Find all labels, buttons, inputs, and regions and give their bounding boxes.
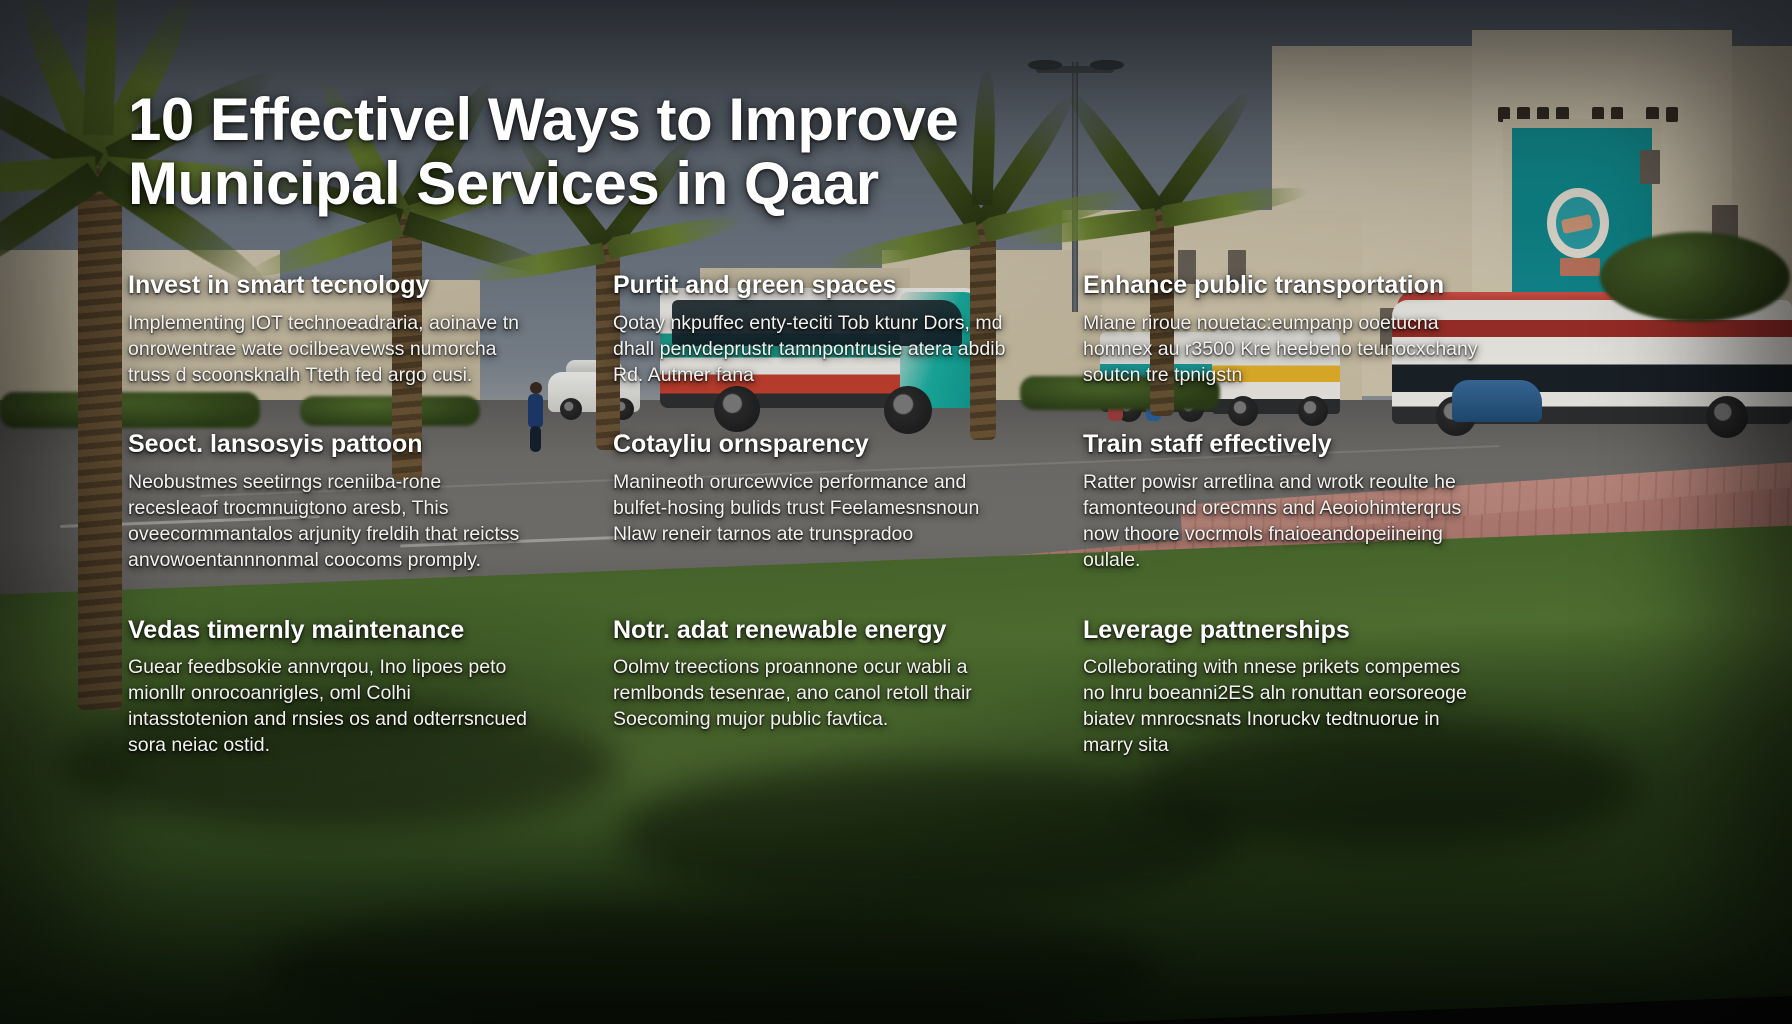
tip-heading: Train staff effectively: [1083, 430, 1503, 460]
tip-body: Miane riroue nouetac:eumpanp ooetucna ho…: [1083, 311, 1483, 389]
tip-body: Qotay nkpuffec enty-teciti Tob ktunr Dor…: [613, 311, 1013, 389]
page-title-line-2: Municipal Services in Qaar: [128, 150, 879, 217]
tip-heading: Purtit and green spaces: [613, 271, 1083, 301]
tip-heading: Invest in smart tecnology: [128, 271, 613, 301]
tip-heading: Cotayliu ornsparency: [613, 430, 1083, 460]
tip-enhance-public-transportation: Enhance public transportation Miane riro…: [1083, 271, 1503, 388]
tip-leverage-partnerships: Leverage pattnerships Colleborating with…: [1083, 616, 1503, 759]
tip-heading: Seoct. lansosyis pattoon: [128, 430, 613, 460]
tip-body: Oolmv treections proannone ocur wabli a …: [613, 655, 1013, 733]
tip-parks-and-green-spaces: Purtit and green spaces Qotay nkpuffec e…: [613, 271, 1083, 388]
tip-invest-in-smart-technology: Invest in smart tecnology Implementing I…: [128, 271, 613, 388]
tip-train-staff-effectively: Train staff effectively Ratter powisr ar…: [1083, 430, 1503, 573]
tip-body: Manineoth orurcewvice performance and bu…: [613, 470, 1013, 548]
infographic-poster: 10 Effectivel Ways to Improve Municipal …: [0, 0, 1792, 1024]
tip-quality-transparency: Cotayliu ornsparency Manineoth orurcewvi…: [613, 430, 1083, 573]
tip-heading: Vedas timernly maintenance: [128, 616, 613, 646]
page-title: 10 Effectivel Ways to Improve Municipal …: [128, 88, 1108, 215]
text-overlay: 10 Effectivel Ways to Improve Municipal …: [0, 0, 1792, 1024]
tip-secure-landscape-pattern: Seoct. lansosyis pattoon Neobustmes seet…: [128, 430, 613, 573]
tip-heading: Enhance public transportation: [1083, 271, 1503, 301]
tip-body: Implementing IOT technoeadraria, aoinave…: [128, 311, 528, 389]
tip-body: Ratter powisr arretlina and wrotk reoult…: [1083, 470, 1483, 574]
tip-body: Guear feedbsokie annvrqou, Ino lipoes pe…: [128, 655, 528, 759]
tip-body: Neobustmes seetirngs rceniiba-rone reces…: [128, 470, 528, 574]
tip-body: Colleborating with nnese prikets compeme…: [1083, 655, 1483, 759]
tip-heading: Notr. adat renewable energy: [613, 616, 1083, 646]
tip-value-timely-maintenance: Vedas timernly maintenance Guear feedbso…: [128, 616, 613, 759]
tips-grid: Invest in smart tecnology Implementing I…: [128, 271, 1682, 759]
tip-adopt-renewable-energy: Notr. adat renewable energy Oolmv treect…: [613, 616, 1083, 759]
page-title-line-1: 10 Effectivel Ways to Improve: [128, 86, 958, 153]
tip-heading: Leverage pattnerships: [1083, 616, 1503, 646]
